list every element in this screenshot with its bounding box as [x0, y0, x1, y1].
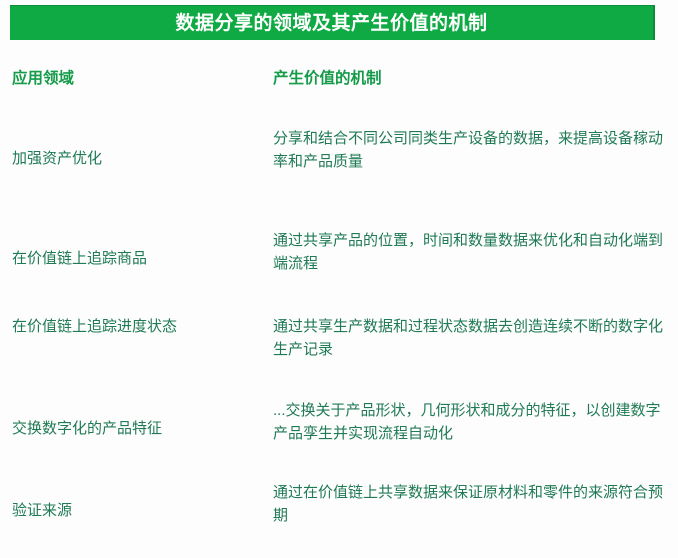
row-area-label: 在价值链上追踪进度状态 — [12, 316, 242, 339]
cell-application-area: 加强资产优化 — [0, 128, 262, 171]
table-header-row: 应用领域 产生价值的机制 — [0, 40, 678, 92]
header-cell-mechanism: 产生价值的机制 — [262, 40, 678, 89]
cell-application-area: 在价值链上追踪进度状态 — [0, 316, 262, 339]
cell-value-mechanism: 通过共享生产数据和过程状态数据去创造连续不断的数字化生产记录 — [262, 316, 678, 362]
row-area-label: 交换数字化的产品特征 — [12, 418, 242, 441]
cell-value-mechanism: 分享和结合不同公司同类生产设备的数据，来提高设备稼动率和产品质量 — [262, 128, 678, 174]
row-mechanism-text: 通过在价值链上共享数据来保证原材料和零件的来源符合预期 — [273, 482, 664, 528]
row-mechanism-text: 分享和结合不同公司同类生产设备的数据，来提高设备稼动率和产品质量 — [273, 128, 664, 174]
row-area-label: 加强资产优化 — [12, 148, 242, 171]
column-header-application-area: 应用领域 — [12, 70, 262, 89]
row-mechanism-text: 通过共享产品的位置，时间和数量数据来优化和自动化端到端流程 — [273, 230, 664, 276]
title-banner: 数据分享的领域及其产生价值的机制 — [10, 5, 655, 40]
cell-application-area: 在价值链上追踪商品 — [0, 230, 262, 271]
row-area-label: 验证来源 — [12, 500, 242, 523]
page-title: 数据分享的领域及其产生价值的机制 — [175, 14, 487, 33]
cell-application-area: 验证来源 — [0, 482, 262, 523]
cell-value-mechanism: 通过共享产品的位置，时间和数量数据来优化和自动化端到端流程 — [262, 230, 678, 276]
data-table: 应用领域 产生价值的机制 加强资产优化 分享和结合不同公司同类生产设备的数据，来… — [0, 40, 678, 558]
table-row: 交换数字化的产品特征 ...交换关于产品形状，几何形状和成分的特征，以创建数字产… — [0, 392, 678, 474]
table-row: 在价值链上追踪商品 通过共享产品的位置，时间和数量数据来优化和自动化端到端流程 — [0, 216, 678, 310]
cell-value-mechanism: ...交换关于产品形状，几何形状和成分的特征，以创建数字产品孪生并实现流程自动化 — [262, 400, 678, 446]
table-row: 验证来源 通过在价值链上共享数据来保证原材料和零件的来源符合预期 — [0, 474, 678, 558]
column-header-value-mechanism: 产生价值的机制 — [273, 70, 664, 89]
row-mechanism-text: 通过共享生产数据和过程状态数据去创造连续不断的数字化生产记录 — [273, 316, 664, 362]
cell-value-mechanism: 通过在价值链上共享数据来保证原材料和零件的来源符合预期 — [262, 482, 678, 528]
table-row: 加强资产优化 分享和结合不同公司同类生产设备的数据，来提高设备稼动率和产品质量 — [0, 92, 678, 216]
slide-page: 数据分享的领域及其产生价值的机制 应用领域 产生价值的机制 加强资产优化 分享和… — [0, 0, 678, 535]
row-mechanism-text: ...交换关于产品形状，几何形状和成分的特征，以创建数字产品孪生并实现流程自动化 — [273, 400, 664, 446]
row-area-label: 在价值链上追踪商品 — [12, 248, 242, 271]
cell-application-area: 交换数字化的产品特征 — [0, 400, 262, 441]
table-row: 在价值链上追踪进度状态 通过共享生产数据和过程状态数据去创造连续不断的数字化生产… — [0, 310, 678, 392]
header-cell-area: 应用领域 — [0, 40, 262, 89]
